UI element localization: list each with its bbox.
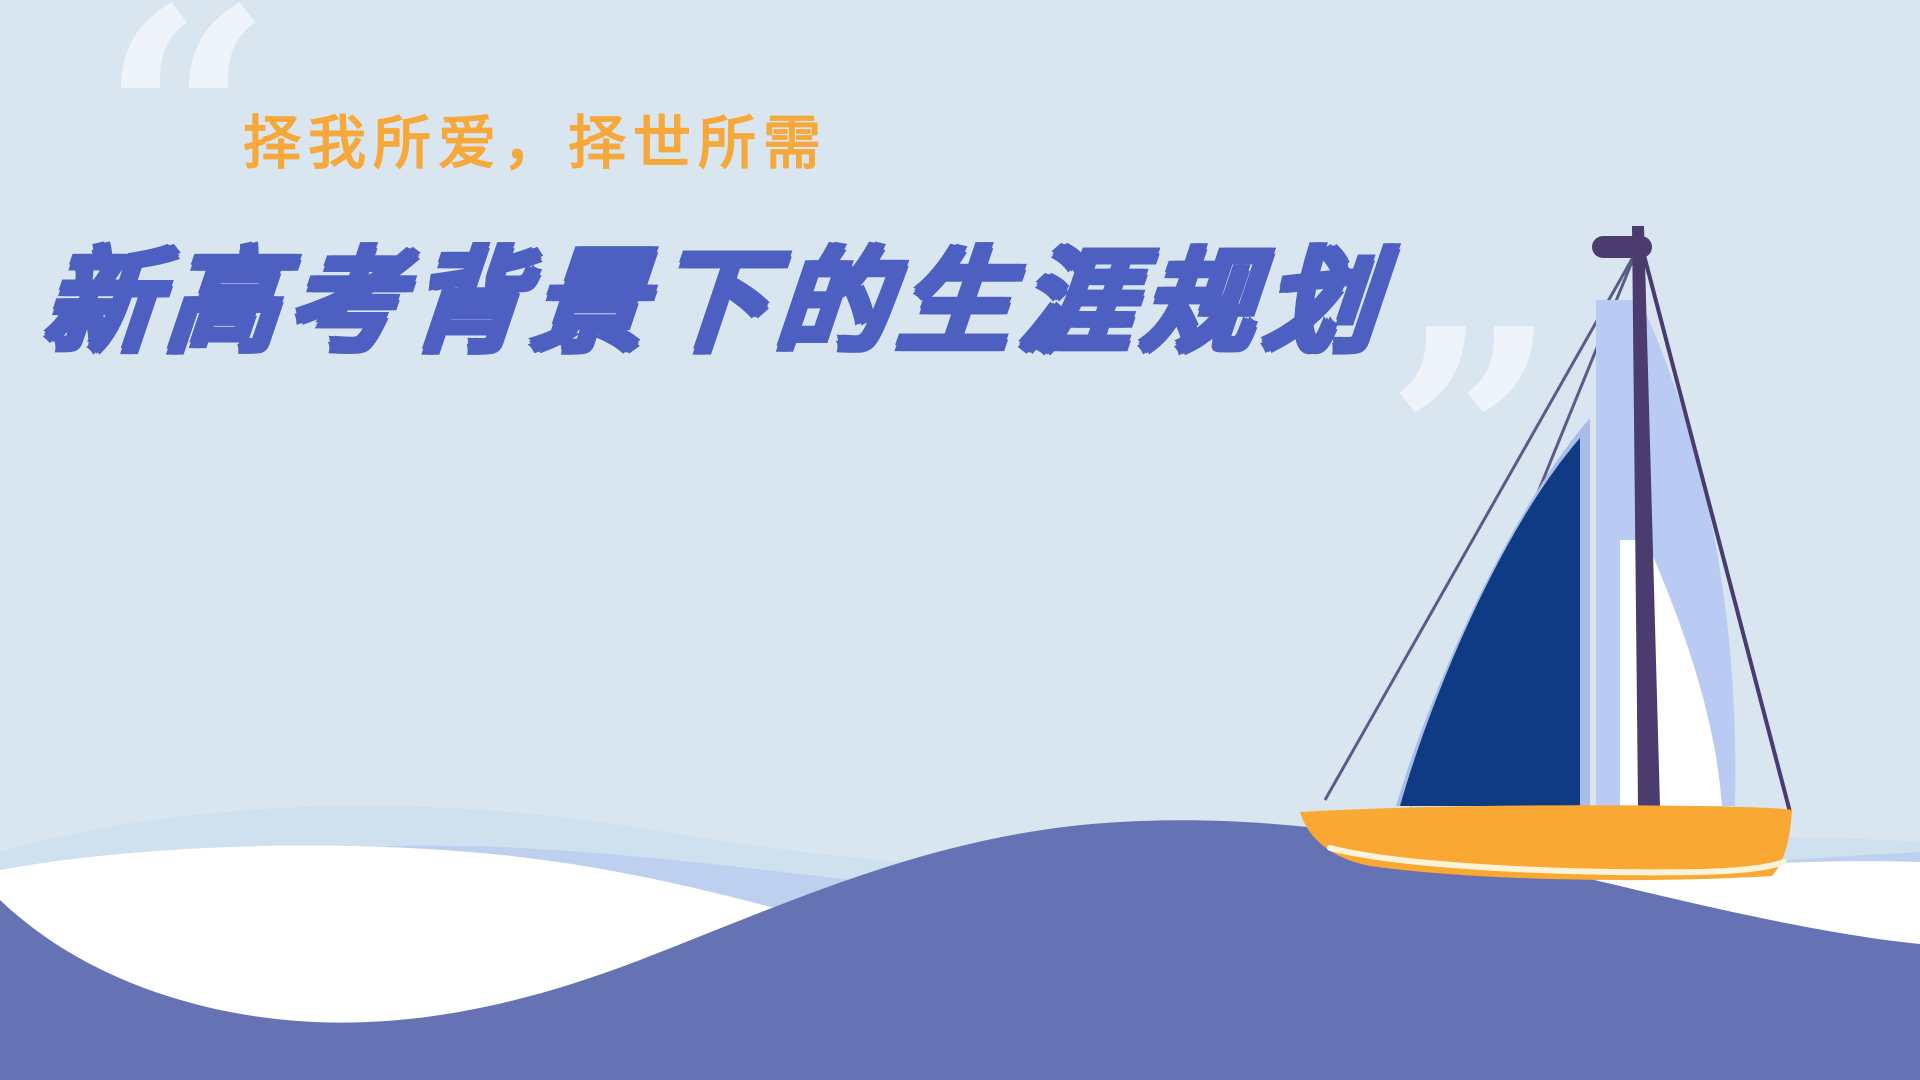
slide-subtitle: 择我所爱，择世所需: [243, 96, 828, 180]
page-title: 新高考背景下的生涯规划: [39, 212, 1395, 374]
title-slide: “ ” 择我所爱，择世所需 新高考背景下的生涯规划: [0, 0, 1920, 1080]
title-text-block: 择我所爱，择世所需 新高考背景下的生涯规划: [0, 0, 1560, 420]
